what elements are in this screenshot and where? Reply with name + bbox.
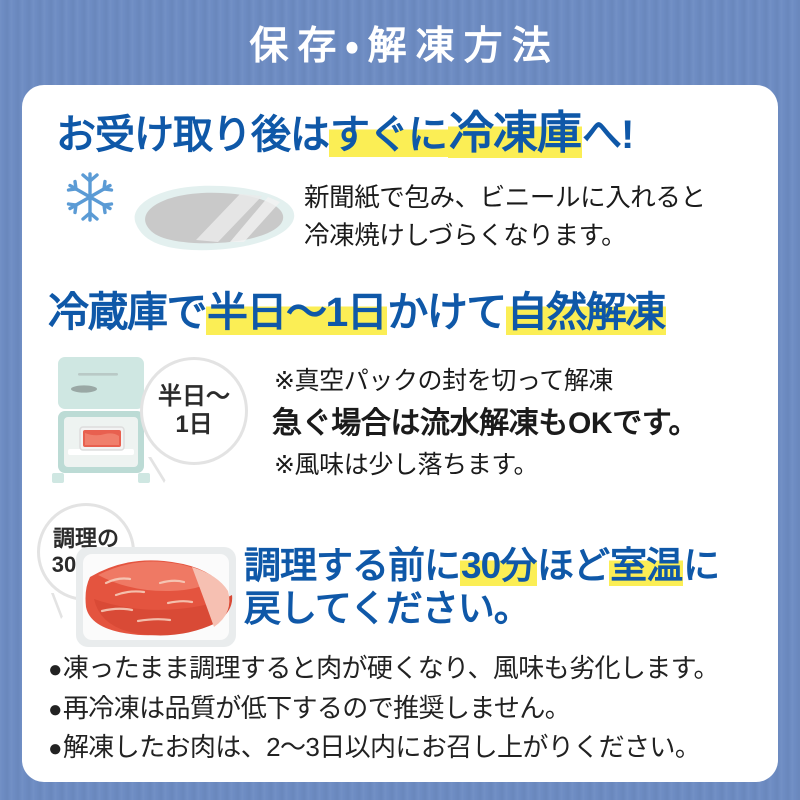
poster-root: 保存・解凍方法 お受け取り後はすぐに冷凍庫へ! <box>0 0 800 800</box>
bullet-text: 凍ったまま調理すると肉が硬くなり、風味も劣化します。 <box>63 653 719 683</box>
section2-heading-highlight2: 自然解凍 <box>506 289 666 335</box>
section2-heading-highlight1: 半日〜1日 <box>206 289 387 335</box>
section1-heading-highlight1: すぐに <box>329 113 448 157</box>
bullet-text: 解凍したお肉は、2〜3日以内にお召し上がりください。 <box>63 732 700 762</box>
bullet-dot-icon: ● <box>48 735 62 762</box>
section3-heading-highlight1: 30分 <box>460 545 537 586</box>
meat-tray-illustration <box>72 537 240 655</box>
section3-heading-part3: に <box>683 545 719 586</box>
section1-body-line1: 新聞紙で包み、ビニールに入れると <box>304 180 706 218</box>
section3-heading-line1: 調理する前に30分ほど室温に <box>244 545 719 588</box>
title-bar: 保存・解凍方法 <box>0 0 800 85</box>
page-title: 保存・解凍方法 <box>240 15 559 71</box>
section2-heading-part1: 冷蔵庫で <box>48 289 206 335</box>
section2-heading-part2: かけて <box>387 289 506 335</box>
bubble-text: 半日〜 1日 <box>140 357 248 465</box>
bullet-dot-icon: ● <box>48 656 62 683</box>
bullet-dot-icon: ● <box>48 696 62 723</box>
section1-body: 新聞紙で包み、ビニールに入れると 冷凍焼けしづらくなります。 <box>304 180 706 255</box>
snowflake-icon <box>64 171 116 223</box>
list-item: ●凍ったまま調理すると肉が硬くなり、風味も劣化します。 <box>48 649 719 689</box>
section2-bubble-line2: 1日 <box>175 411 212 439</box>
section2-note-line1: ※真空パックの封を切って解凍 <box>274 361 613 397</box>
bullet-list: ●凍ったまま調理すると肉が硬くなり、風味も劣化します。 ●再冷凍は品質が低下する… <box>48 649 719 768</box>
bullet-text: 再冷凍は品質が低下するので推奨しません。 <box>63 693 570 723</box>
section2-note-line3: ※風味は少し落ちます。 <box>274 445 538 481</box>
section1-body-line2: 冷凍焼けしづらくなります。 <box>304 218 706 256</box>
section1-heading-part1: お受け取り後は <box>56 113 329 157</box>
frozen-vacuum-pack-illustration <box>122 180 302 254</box>
list-item: ●再冷凍は品質が低下するので推奨しません。 <box>48 689 719 729</box>
list-item: ●解凍したお肉は、2〜3日以内にお召し上がりください。 <box>48 728 719 768</box>
section2-bubble-line1: 半日〜 <box>158 383 230 411</box>
content-card: お受け取り後はすぐに冷凍庫へ! <box>22 85 778 782</box>
section2-heading: 冷蔵庫で半日〜1日かけて自然解凍 <box>48 289 666 337</box>
section3-heading-line2: 戻してください。 <box>244 588 719 631</box>
section3-heading-highlight2: 室温 <box>609 545 683 586</box>
section1-heading-highlight2: 冷凍庫 <box>448 107 582 158</box>
section1-heading-part2: へ! <box>582 113 633 157</box>
section3-heading-part1: 調理する前に <box>244 545 460 586</box>
section2-note-line2: 急ぐ場合は流水解凍もOKです。 <box>272 398 698 442</box>
section2-speech-bubble: 半日〜 1日 <box>140 357 248 465</box>
section3-heading-part2: ほど <box>537 545 609 586</box>
section1-heading: お受け取り後はすぐに冷凍庫へ! <box>56 107 633 159</box>
section3-heading: 調理する前に30分ほど室温に 戻してください。 <box>244 545 719 631</box>
